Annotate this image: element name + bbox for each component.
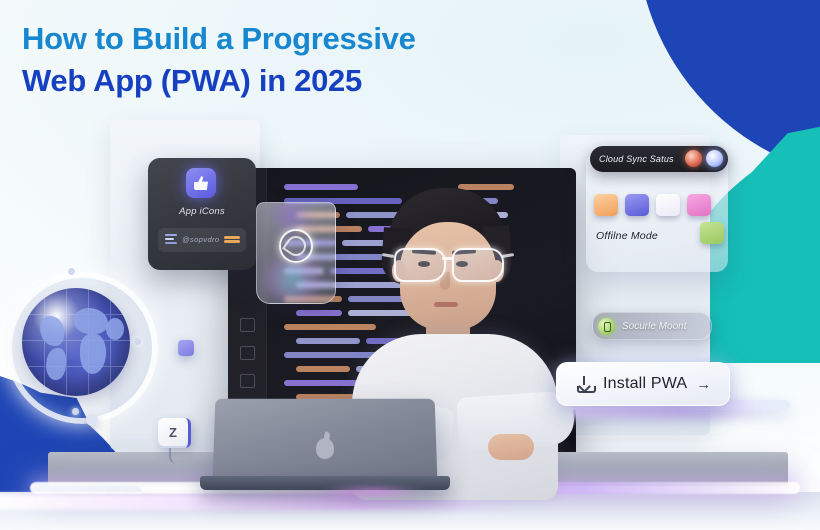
globe-node-dot — [72, 408, 79, 415]
cloud-sync-panel[interactable]: Cloud Sync Satus Offilne Mode — [586, 152, 728, 272]
headline-line-2: Web App (PWA) in 2025 — [22, 60, 416, 102]
laptop-under-glow — [318, 484, 428, 500]
floating-cube-purple — [178, 340, 194, 356]
secure-mount-label: Socurle Moont — [622, 321, 686, 332]
floating-sphere-grey — [86, 414, 98, 426]
record-dot-icon[interactable] — [685, 150, 702, 167]
swatch-pink[interactable] — [687, 194, 711, 216]
person-mouth — [434, 302, 458, 307]
cloud-sync-panel-title: Cloud Sync Satus — [599, 154, 674, 164]
glass-overlay-card — [256, 202, 336, 304]
macbook-laptop — [200, 398, 450, 498]
list-lines-icon — [165, 234, 177, 246]
hero-banner-canvas: App iCons @sopvdro Z — [0, 0, 820, 530]
install-pwa-button[interactable]: Install PWA → — [556, 362, 730, 406]
abstract-symbol-icon — [279, 229, 313, 263]
glass-blob-cyan — [259, 257, 325, 301]
keycap-letter: Z — [158, 418, 188, 448]
amber-marker-icon — [224, 236, 240, 239]
thumbs-up-icon — [186, 168, 216, 198]
swatch-indigo[interactable] — [625, 194, 649, 216]
download-icon — [577, 376, 594, 393]
swatch-green[interactable] — [700, 222, 724, 244]
cloud-sync-status-dots — [685, 150, 723, 167]
install-pwa-label: Install PWA — [603, 375, 687, 393]
globe-node-dot — [68, 268, 75, 275]
apple-logo-icon — [316, 438, 334, 459]
app-icons-card[interactable]: App iCons @sopvdro — [148, 158, 256, 270]
lock-icon — [598, 318, 615, 335]
page-title: How to Build a Progressive Web App (PWA)… — [22, 18, 416, 102]
sync-dot-icon[interactable] — [706, 150, 723, 167]
color-swatch-row[interactable] — [594, 194, 711, 216]
secure-mount-badge[interactable]: Socurle Moont — [592, 312, 712, 340]
swatch-white[interactable] — [656, 194, 680, 216]
globe-hologram — [6, 268, 146, 418]
safety-glasses-icon — [390, 248, 508, 282]
headline-line-1: How to Build a Progressive — [22, 18, 416, 60]
globe-sphere — [22, 288, 130, 396]
app-icons-sub-row-label: @sopvdro — [182, 235, 220, 244]
globe-grid — [22, 288, 130, 396]
cloud-sync-panel-header: Cloud Sync Satus — [590, 146, 728, 172]
laptop-lid — [213, 399, 438, 480]
app-icons-card-title: App iCons — [148, 206, 256, 217]
app-icons-sub-row[interactable]: @sopvdro — [158, 228, 246, 252]
globe-node-dot — [134, 338, 141, 345]
swatch-orange[interactable] — [594, 194, 618, 216]
cloud-sync-panel-subtitle: Offilne Mode — [596, 230, 658, 242]
arrow-right-icon: → — [696, 376, 711, 393]
keycap-z[interactable]: Z — [158, 418, 191, 448]
person-hand-right — [488, 434, 534, 460]
